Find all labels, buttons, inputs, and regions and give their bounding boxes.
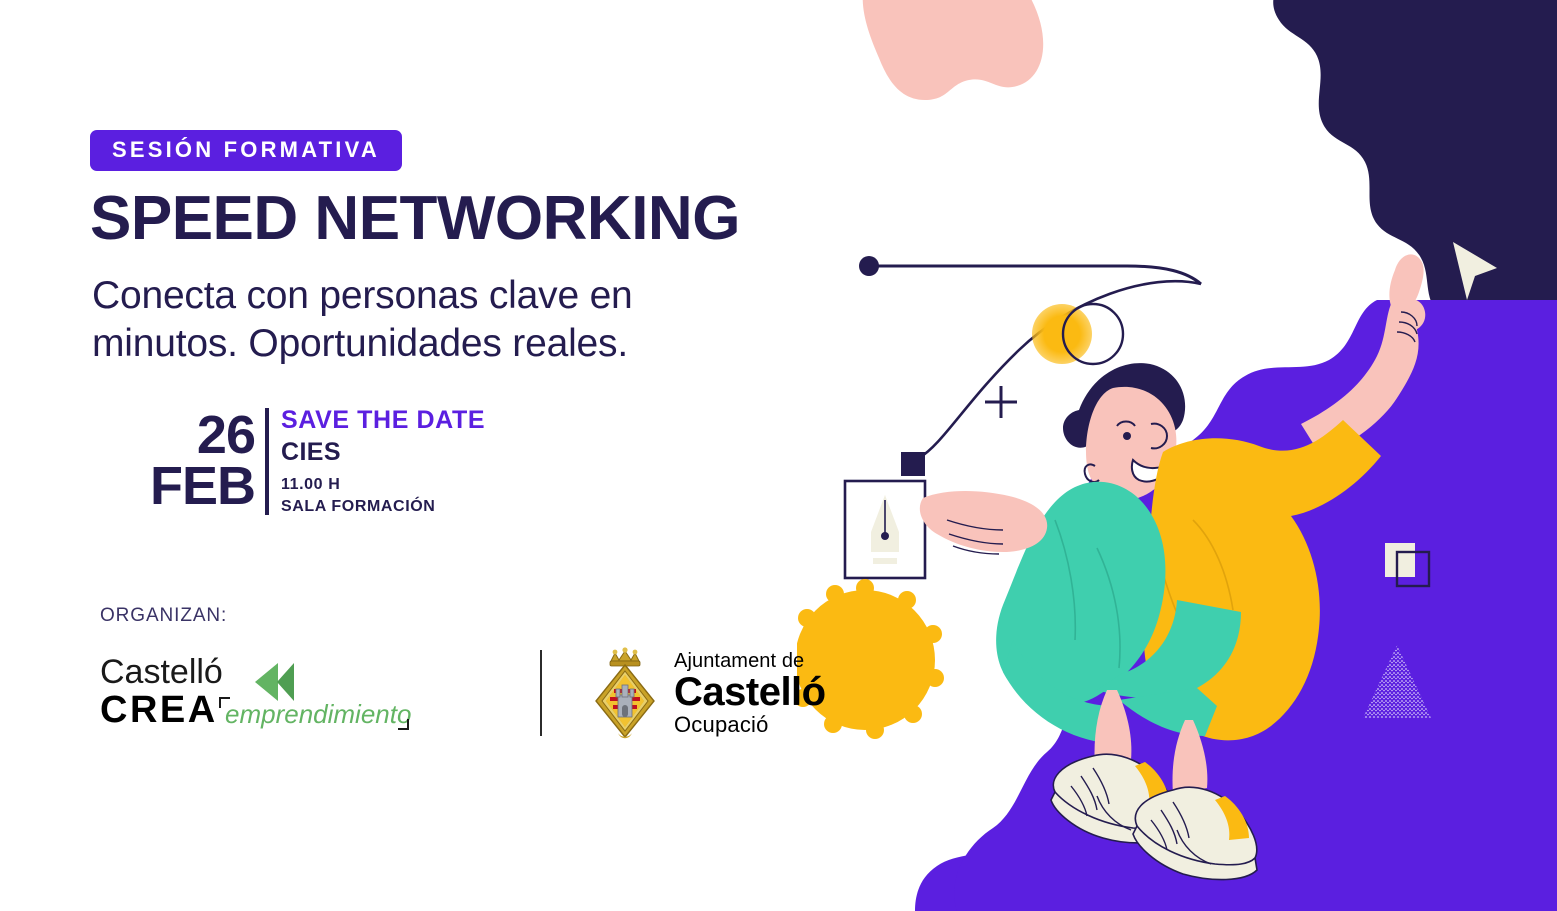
bracket-bottom-right-icon bbox=[398, 719, 409, 730]
event-time: 11.00 H bbox=[281, 474, 485, 496]
event-details: 26 FEB SAVE THE DATE CIES 11.00 H SALA F… bbox=[150, 406, 485, 517]
event-info: SAVE THE DATE CIES 11.00 H SALA FORMACIÓ… bbox=[269, 406, 485, 517]
crea-line-bottom: CREA bbox=[100, 691, 223, 731]
logo-separator bbox=[540, 650, 542, 736]
subtitle: Conecta con personas clave en minutos. O… bbox=[92, 272, 792, 367]
organizers-label: ORGANIZAN: bbox=[100, 605, 227, 627]
session-type-badge: SESIÓN FORMATIVA bbox=[90, 130, 402, 171]
event-day: 26 bbox=[197, 411, 255, 461]
crea-line-top: Castelló bbox=[100, 655, 223, 689]
crea-tagline: emprendimiento bbox=[225, 699, 411, 730]
content-panel: SESIÓN FORMATIVA SPEED NETWORKING Conect… bbox=[0, 0, 820, 911]
event-room: SALA FORMACIÓN bbox=[281, 496, 485, 518]
poster-canvas: SESIÓN FORMATIVA SPEED NETWORKING Conect… bbox=[0, 0, 1557, 911]
event-date: 26 FEB bbox=[150, 406, 265, 517]
ajuntament-wordmark: Ajuntament de Castelló Ocupació bbox=[674, 651, 826, 736]
castello-coat-of-arms-icon bbox=[588, 645, 662, 741]
subtitle-line-1: Conecta con personas clave en bbox=[92, 272, 792, 320]
event-venue: CIES bbox=[281, 436, 485, 469]
ajuntament-line-2: Castelló bbox=[674, 672, 826, 712]
ajuntament-line-1: Ajuntament de bbox=[674, 651, 826, 671]
subtitle-line-2: minutos. Oportunidades reales. bbox=[92, 320, 792, 368]
logo-castello-crea: Castelló CREA emprendimiento bbox=[100, 655, 420, 731]
event-month: FEB bbox=[150, 461, 255, 512]
logo-ajuntament-castello: Ajuntament de Castelló Ocupació bbox=[588, 645, 826, 741]
ajuntament-line-3: Ocupació bbox=[674, 714, 826, 736]
page-title: SPEED NETWORKING bbox=[90, 186, 740, 251]
illustration-panel bbox=[797, 0, 1557, 911]
crea-wordmark: Castelló CREA bbox=[100, 655, 223, 731]
organizer-logos: Castelló CREA emprendimiento bbox=[100, 645, 826, 741]
save-the-date-label: SAVE THE DATE bbox=[281, 406, 485, 436]
